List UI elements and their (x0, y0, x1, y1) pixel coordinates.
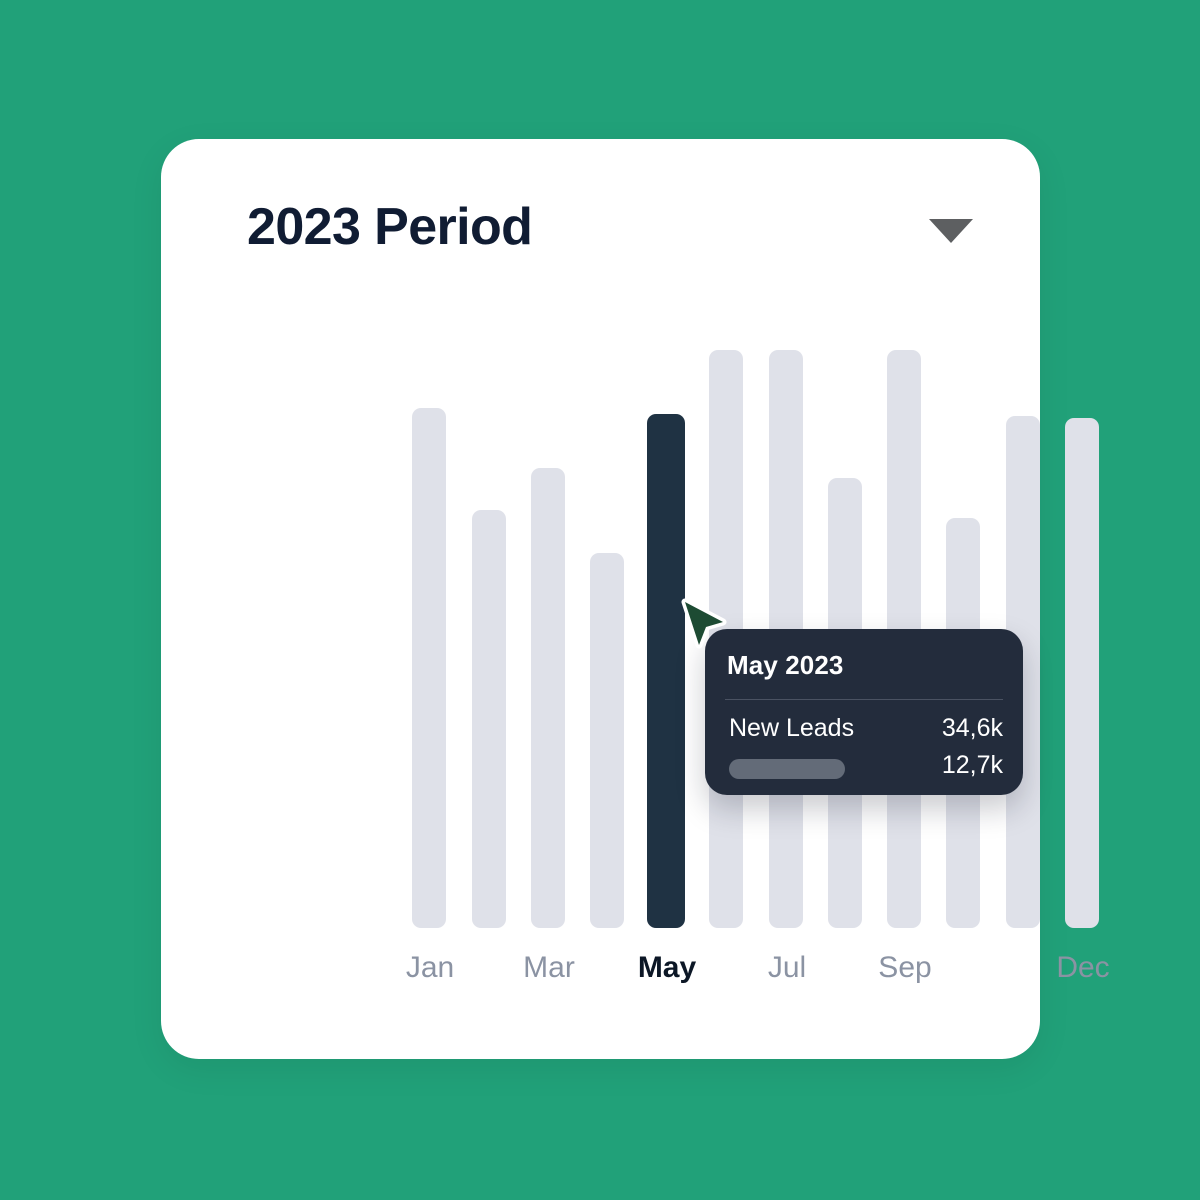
tooltip-row-value: 12,7k (942, 751, 1003, 780)
bar[interactable] (590, 553, 624, 928)
chart-card: 2023 Period JanMarMayJulSepDec May 2023 … (161, 139, 1040, 1059)
tooltip-title: May 2023 (727, 650, 843, 681)
bar[interactable] (1065, 418, 1099, 928)
tooltip-row-value: 34,6k (942, 714, 1003, 743)
x-axis-tick-mar[interactable]: Mar (523, 951, 575, 985)
x-axis-tick-dec[interactable]: Dec (1056, 951, 1109, 985)
tooltip-row: New Leads 34,6k (725, 714, 1003, 748)
x-axis-tick-may[interactable]: May (638, 951, 696, 985)
chart-tooltip: May 2023 New Leads 34,6k 12,7k (705, 629, 1023, 795)
bar-active[interactable] (647, 414, 685, 928)
tooltip-row: 12,7k (725, 751, 1003, 785)
bar-chart-plot (161, 139, 1040, 1059)
bar[interactable] (531, 468, 565, 928)
tooltip-divider (725, 699, 1003, 700)
x-axis-tick-jul[interactable]: Jul (768, 951, 806, 985)
bar[interactable] (412, 408, 446, 928)
x-axis-tick-sep[interactable]: Sep (878, 951, 931, 985)
x-axis-tick-jan[interactable]: Jan (406, 951, 454, 985)
x-axis-labels: JanMarMayJulSepDec (161, 951, 1040, 1011)
tooltip-skeleton-placeholder (729, 759, 845, 779)
bar[interactable] (472, 510, 506, 928)
tooltip-row-label: New Leads (729, 714, 854, 743)
screen-root: 2023 Period JanMarMayJulSepDec May 2023 … (0, 0, 1200, 1200)
